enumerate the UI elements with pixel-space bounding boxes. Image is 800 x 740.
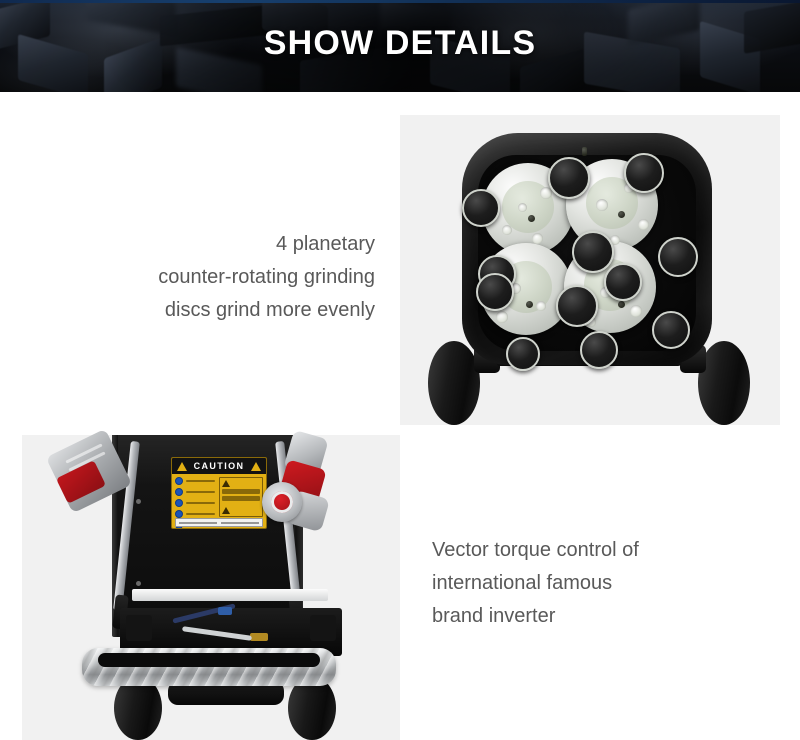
grinding-pad [506, 337, 540, 371]
grinding-pad [572, 231, 614, 273]
disc-hole [518, 203, 527, 212]
housing-bolt [582, 147, 587, 156]
disc-hole [496, 311, 508, 323]
disc-bolt [528, 215, 535, 222]
caution-icon-row [175, 488, 215, 496]
warning-triangle-icon [177, 462, 187, 471]
grinding-pad [476, 273, 514, 311]
power-connector-left [56, 440, 122, 502]
caution-text-line [186, 491, 215, 493]
caution-text-lines [232, 507, 260, 508]
warning-triangle-icon [251, 462, 261, 471]
disc-hole [630, 305, 642, 317]
caution-icon-row [175, 510, 215, 518]
warning-triangle-icon [222, 480, 230, 487]
caution-label-body: CAUTION [171, 457, 267, 529]
mandatory-action-icon [175, 477, 183, 485]
warning-triangle-icon [222, 507, 230, 514]
caution-label: CAUTION [171, 457, 267, 529]
disc-hole [502, 225, 512, 235]
grinding-pad [548, 157, 590, 199]
caution-text-line [222, 489, 260, 494]
grinding-pad [658, 237, 698, 277]
mandatory-action-icon [175, 488, 183, 496]
grinding-pad [462, 189, 500, 227]
caution-text-line [186, 480, 215, 482]
disc-bolt [526, 301, 533, 308]
grinding-pad [556, 285, 598, 327]
footer-text-line [221, 522, 259, 524]
caution-label-footer [175, 518, 263, 527]
disc-hole [596, 199, 608, 211]
caution-warning-row [222, 507, 260, 514]
disc-hole [638, 219, 649, 230]
caution-text-line [186, 513, 215, 515]
disc-hole [536, 301, 546, 311]
grinding-pad [604, 263, 642, 301]
photo-grinder-underside [400, 115, 780, 425]
caution-label-header: CAUTION [172, 458, 266, 474]
footer-text-line [179, 522, 217, 524]
connector-cap [262, 482, 302, 522]
disc-bolt [618, 211, 625, 218]
wheel-icon [428, 341, 480, 425]
caution-text-block [219, 477, 263, 517]
mandatory-action-icon [175, 510, 183, 518]
caption-planetary-discs: 4 planetary counter-rotating grinding di… [30, 228, 375, 327]
caution-icon-row [175, 499, 215, 507]
grinder-underside-illustration [400, 115, 780, 425]
caution-text-line [186, 502, 215, 504]
grinding-pad [580, 331, 618, 369]
grinding-pad [624, 153, 664, 193]
caption-vector-torque: Vector torque control of international f… [432, 534, 762, 633]
grinding-pad [652, 311, 690, 349]
disc-hole [532, 233, 543, 244]
caution-label-content [175, 477, 263, 517]
caution-warning-row [222, 480, 260, 487]
show-details-banner: SHOW DETAILS [0, 0, 800, 92]
disc-bolt [618, 301, 625, 308]
mandatory-action-icon [175, 499, 183, 507]
detail-page: SHOW DETAILS 4 planetary counter-rotatin… [0, 0, 800, 740]
caution-text-line [222, 496, 260, 501]
caution-text-lines [232, 480, 260, 482]
caution-icon-list [175, 477, 215, 517]
power-connector-right [262, 438, 338, 538]
caution-heading: CAUTION [194, 461, 245, 471]
banner-accent-line [0, 0, 800, 3]
caution-icon-row [175, 477, 215, 485]
page-title: SHOW DETAILS [0, 24, 800, 63]
